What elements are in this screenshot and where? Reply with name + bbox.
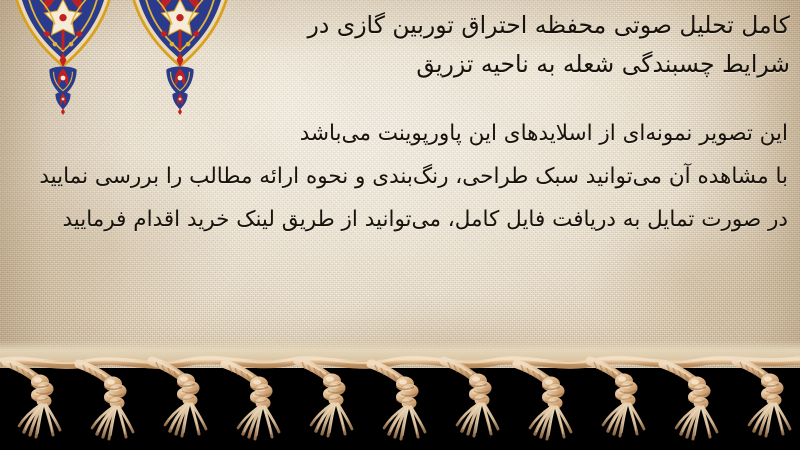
slide-title: کامل تحلیل صوتی محفظه احتراق توربین گازی… <box>230 6 790 84</box>
tassel-row <box>6 360 790 440</box>
slide-title-line-1: کامل تحلیل صوتی محفظه احتراق توربین گازی… <box>230 6 790 45</box>
knotted-tassel-fringe <box>0 340 800 450</box>
slide-body-line-2: با مشاهده آن می‌توانید سبک طراحی، رنگ‌بن… <box>8 155 788 198</box>
slide-body-line-3: در صورت تمایل به دریافت فایل کامل، می‌تو… <box>8 198 788 241</box>
presentation-slide: کامل تحلیل صوتی محفظه احتراق توربین گازی… <box>0 0 800 450</box>
slide-body-line-1: این تصویر نمونه‌ای از اسلایدهای این پاور… <box>8 112 788 155</box>
slide-body: این تصویر نمونه‌ای از اسلایدهای این پاور… <box>8 112 788 241</box>
cloth-hem-edge <box>0 340 800 365</box>
slide-title-line-2: شرایط چسبندگی شعله به ناحیه تزریق <box>230 45 790 84</box>
